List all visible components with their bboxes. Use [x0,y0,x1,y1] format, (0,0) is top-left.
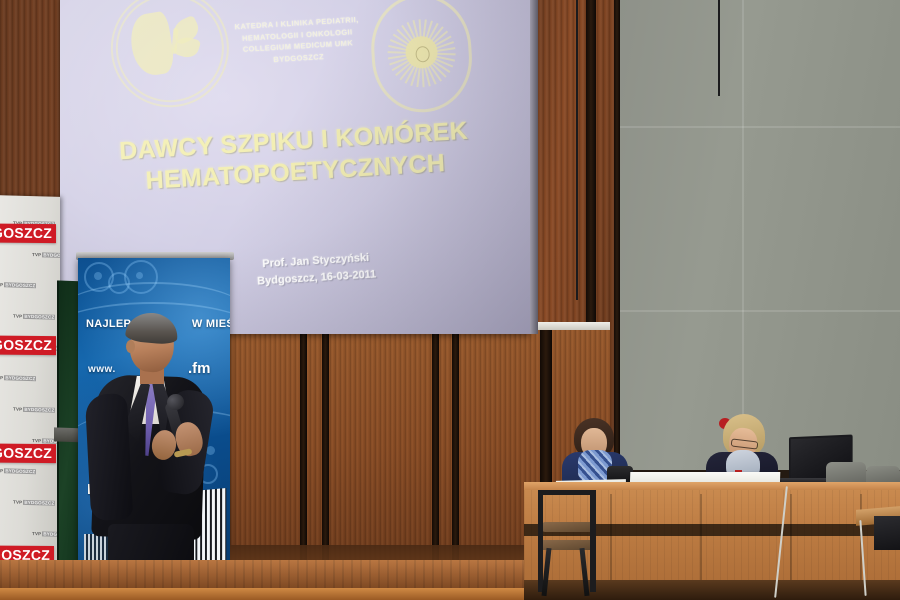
bydgoszcz-logo: GOSZCZ [0,336,56,355]
chair-frame-left [538,492,543,592]
tvp-bydgoszcz-tag: TVPBYDGOSZCZ [13,407,55,413]
tvp-bydgoszcz-tag: TVPBYDGOSZCZ [32,252,60,258]
wall-seam-horizontal-1 [600,126,900,128]
bydgoszcz-logo: GOSZCZ [0,224,56,243]
hanging-cable-top [576,0,578,300]
tvp-bydgoszcz-tag: TVPBYDGOSZCZ [0,282,36,288]
chair-frame-top [538,490,596,495]
bydgoszcz-logo: GOSZCZ [0,444,56,463]
stacked-chair [536,500,598,596]
dark-equipment-box [874,516,900,550]
chair-leg-2 [580,548,590,596]
hanging-cable-wall [718,0,720,96]
tvp-bydgoszcz-tag: TVPBYDGOSZCZ [32,531,60,537]
tvp-bydgoszcz-press-backdrop: TVPBYDGOSZCZTVPBYDGOSZCZTVPBYDGOSZCZTVPB… [0,195,60,600]
chair-seat-upper [542,522,594,532]
tvp-bydgoszcz-tag: TVPBYDGOSZCZ [13,500,55,506]
speaker-figure [86,318,218,600]
slide-header: KATEDRA I KLINIKA PEDIATRII, HEMATOLOGII… [201,12,393,70]
panel-divider-4 [452,330,459,575]
speaker-arm-left [85,393,134,521]
speaker-ear [126,340,135,353]
desk-seam-1 [610,494,612,580]
tvp-bydgoszcz-tag: TVPBYDGOSZCZ [13,314,55,320]
wall-seam-horizontal-2 [600,310,900,312]
banner-dot-1 [94,272,102,280]
conference-photo-scene: KATEDRA I KLINIKA PEDIATRII, HEMATOLOGII… [0,0,900,600]
tvp-bydgoszcz-tag: TVPBYDGOSZCZ [0,375,36,381]
chair-leg-1 [542,548,552,596]
wood-divider-c [614,0,620,470]
wall-seam-vertical [742,0,744,470]
child-profile-shape [127,10,177,78]
tvp-bydgoszcz-tag: TVPBYDGOSZCZ [0,468,36,474]
banner-dot-2 [136,272,143,279]
chair-frame-right [590,492,596,592]
slide-title: DAWCY SZPIKU I KOMÓREK HEMATOPOETYCZNYCH [88,114,501,199]
right-wall [600,0,900,470]
panel-divider-2 [322,330,329,575]
panel-divider-3 [432,330,439,575]
desk-seam-2 [700,494,702,580]
panel-divider-1 [300,330,307,575]
screen-right-edge [530,0,538,334]
desk-seam-3 [790,494,792,580]
universitas-nicolai-copernici-seal [368,0,475,115]
